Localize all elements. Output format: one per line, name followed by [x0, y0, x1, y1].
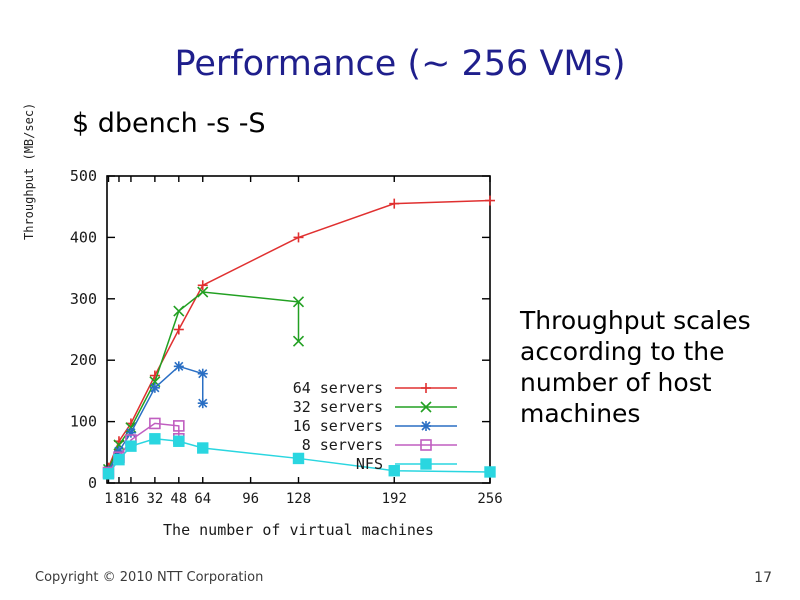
- x-tick-label: 96: [242, 491, 259, 507]
- legend-entry-32-servers: 32 servers: [293, 398, 457, 416]
- legend-label: NFS: [356, 455, 383, 473]
- marker-square-filled: [421, 459, 431, 469]
- marker-square-filled: [150, 434, 160, 444]
- y-tick-label: 300: [70, 290, 97, 308]
- x-tick-label: 64: [194, 491, 211, 507]
- legend-entry-8-servers: 8 servers: [302, 436, 457, 454]
- marker-square-filled: [389, 466, 399, 476]
- marker-square-filled: [126, 441, 136, 451]
- footer-page-number: 17: [754, 570, 772, 586]
- chart-x-axis-label: The number of virtual machines: [163, 521, 434, 539]
- throughput-chart: Throughput (MB/sec) 18163248649612819225…: [0, 0, 540, 560]
- legend-label: 8 servers: [302, 436, 383, 454]
- slide: Performance (~ 256 VMs) $ dbench -s -S T…: [0, 0, 800, 600]
- x-tick-label: 48: [170, 491, 187, 507]
- legend-label: 32 servers: [293, 398, 383, 416]
- y-tick-label: 0: [88, 474, 97, 492]
- footer-copyright: Copyright © 2010 NTT Corporation: [35, 570, 263, 585]
- y-tick-label: 100: [70, 413, 97, 431]
- chart-canvas: 1816324864961281922560100200300400500The…: [0, 0, 540, 560]
- y-tick-label: 400: [70, 228, 97, 246]
- x-tick-label: 16: [123, 491, 140, 507]
- legend-label: 64 servers: [293, 379, 383, 397]
- marker-square-filled: [485, 467, 495, 477]
- marker-square-filled: [114, 455, 124, 465]
- y-tick-label: 200: [70, 351, 97, 369]
- y-tick-label: 500: [70, 167, 97, 185]
- marker-square-filled: [174, 436, 184, 446]
- marker-square-filled: [103, 469, 113, 479]
- marker-square-filled: [294, 453, 304, 463]
- x-tick-label: 128: [286, 491, 311, 507]
- legend-entry-16-servers: 16 servers: [293, 417, 457, 435]
- x-tick-label: 256: [477, 491, 502, 507]
- x-tick-label: 32: [146, 491, 163, 507]
- series-nfs: [103, 434, 495, 479]
- legend-label: 16 servers: [293, 417, 383, 435]
- legend-entry-64-servers: 64 servers: [293, 379, 457, 397]
- body-text: Throughput scales according to the numbe…: [520, 305, 790, 429]
- x-tick-label: 1: [104, 491, 112, 507]
- x-tick-label: 192: [382, 491, 407, 507]
- marker-square-filled: [198, 443, 208, 453]
- chart-y-axis-label: Throughput (MB/sec): [22, 224, 36, 240]
